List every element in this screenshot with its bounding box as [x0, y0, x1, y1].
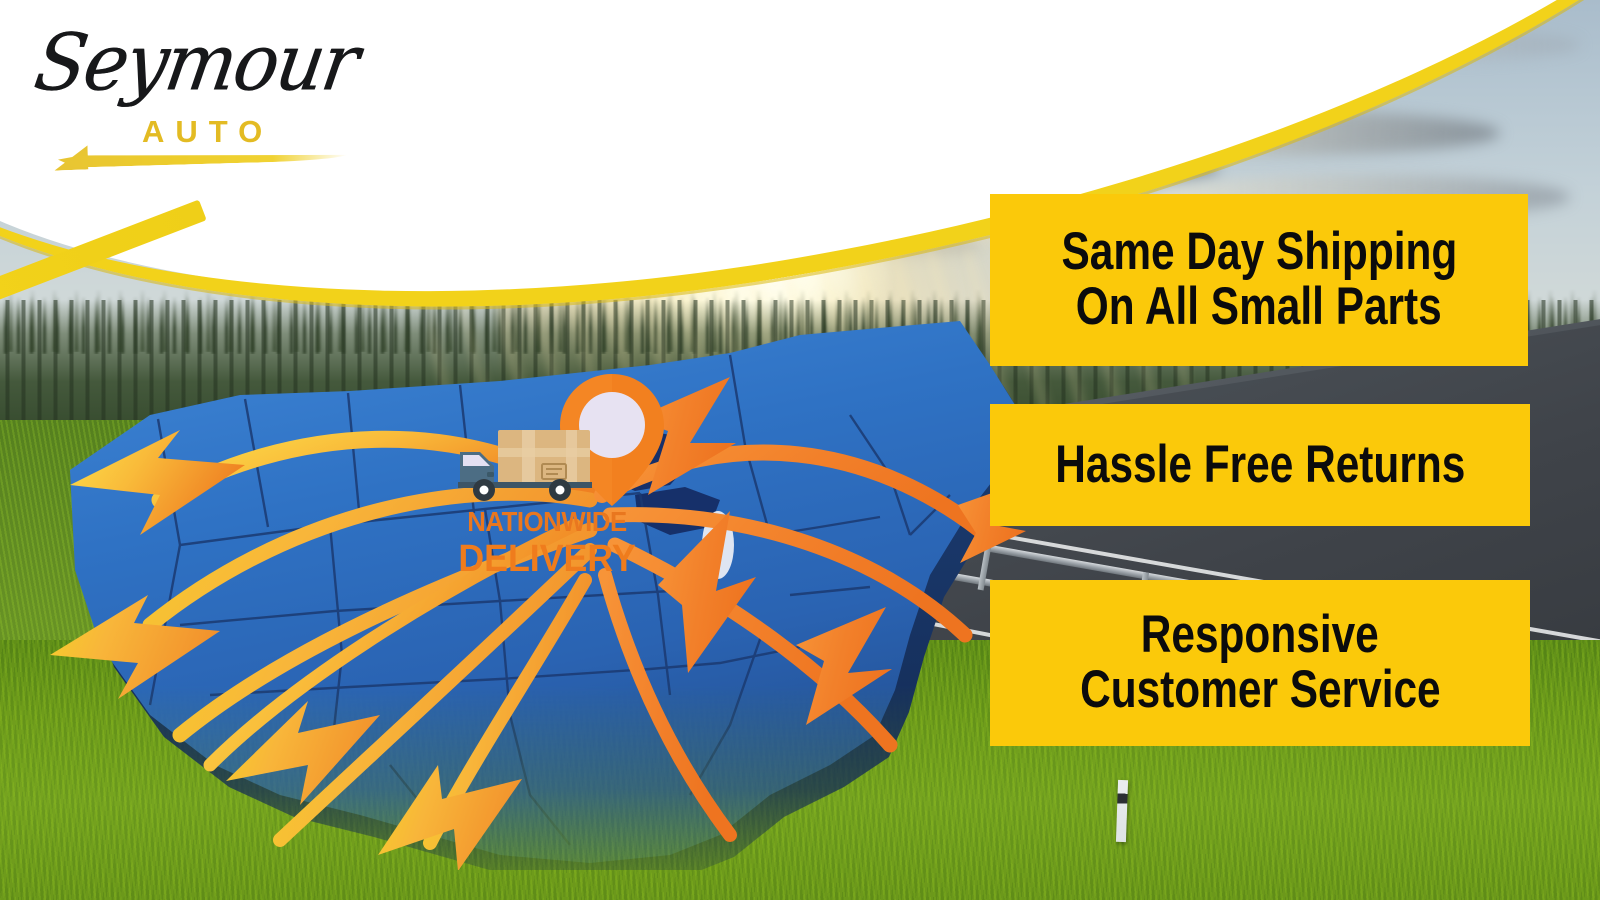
feature-line: Customer Service	[1080, 663, 1441, 718]
delivery-truck-icon	[450, 418, 600, 508]
feature-line: Responsive	[1141, 608, 1379, 663]
feature-box-responsive-customer-service[interactable]: Responsive Customer Service	[990, 580, 1530, 746]
nationwide-label: NATIONWIDE	[437, 506, 658, 538]
delivery-label: DELIVERY	[434, 538, 660, 581]
seymour-auto-logo[interactable]: Seymour AUTO	[30, 14, 350, 174]
promo-banner: Seymour AUTO	[0, 0, 1600, 900]
logo-script-wordmark: Seymour	[29, 17, 364, 108]
feature-box-hassle-free-returns[interactable]: Hassle Free Returns	[990, 404, 1530, 526]
logo-auto-wordmark: AUTO	[142, 114, 273, 150]
feature-line: Same Day Shipping	[1061, 225, 1457, 280]
logo-swoosh	[58, 148, 348, 168]
feature-box-same-day-shipping[interactable]: Same Day Shipping On All Small Parts	[990, 194, 1528, 366]
nationwide-delivery-badge: NATIONWIDE DELIVERY	[432, 370, 662, 585]
feature-line: On All Small Parts	[1076, 280, 1442, 335]
feature-line: Hassle Free Returns	[1055, 438, 1465, 493]
